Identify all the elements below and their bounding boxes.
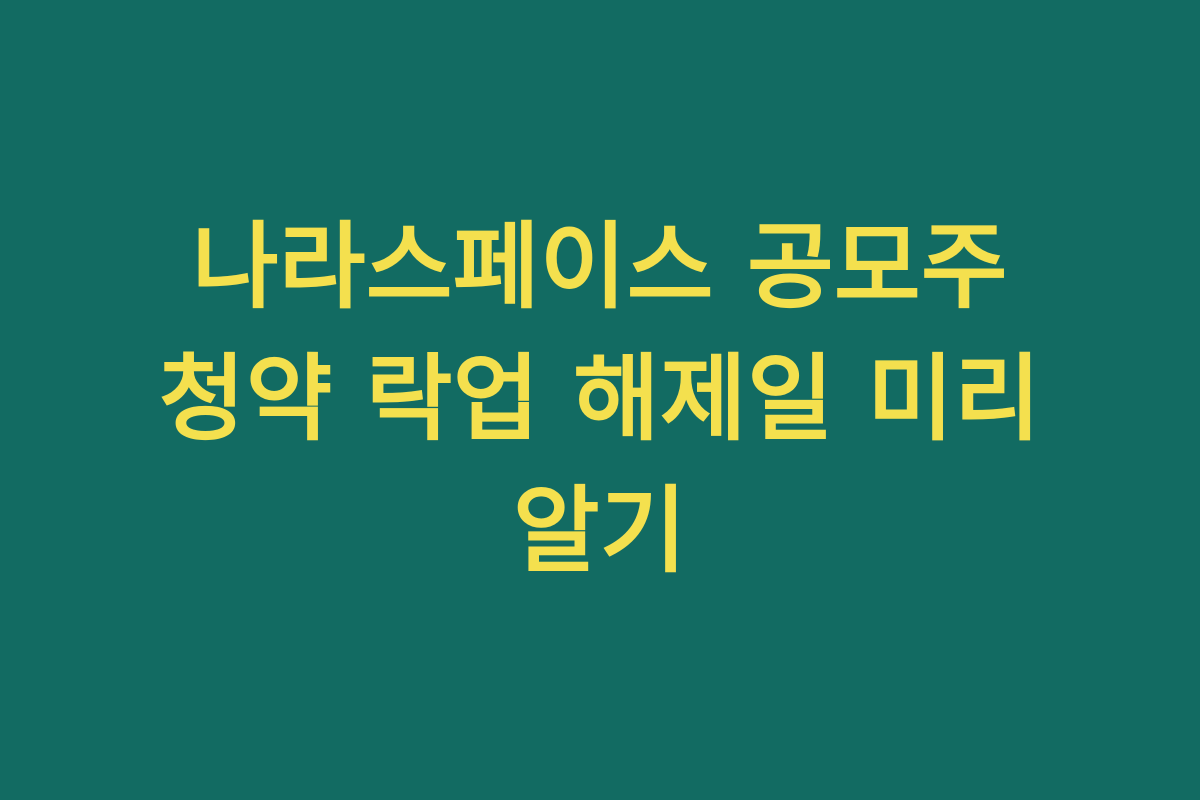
thumbnail-card: 나라스페이스 공모주 청약 락업 해제일 미리 알기 xyxy=(0,0,1200,800)
page-title: 나라스페이스 공모주 청약 락업 해제일 미리 알기 xyxy=(95,202,1105,598)
title-block: 나라스페이스 공모주 청약 락업 해제일 미리 알기 xyxy=(95,202,1105,598)
